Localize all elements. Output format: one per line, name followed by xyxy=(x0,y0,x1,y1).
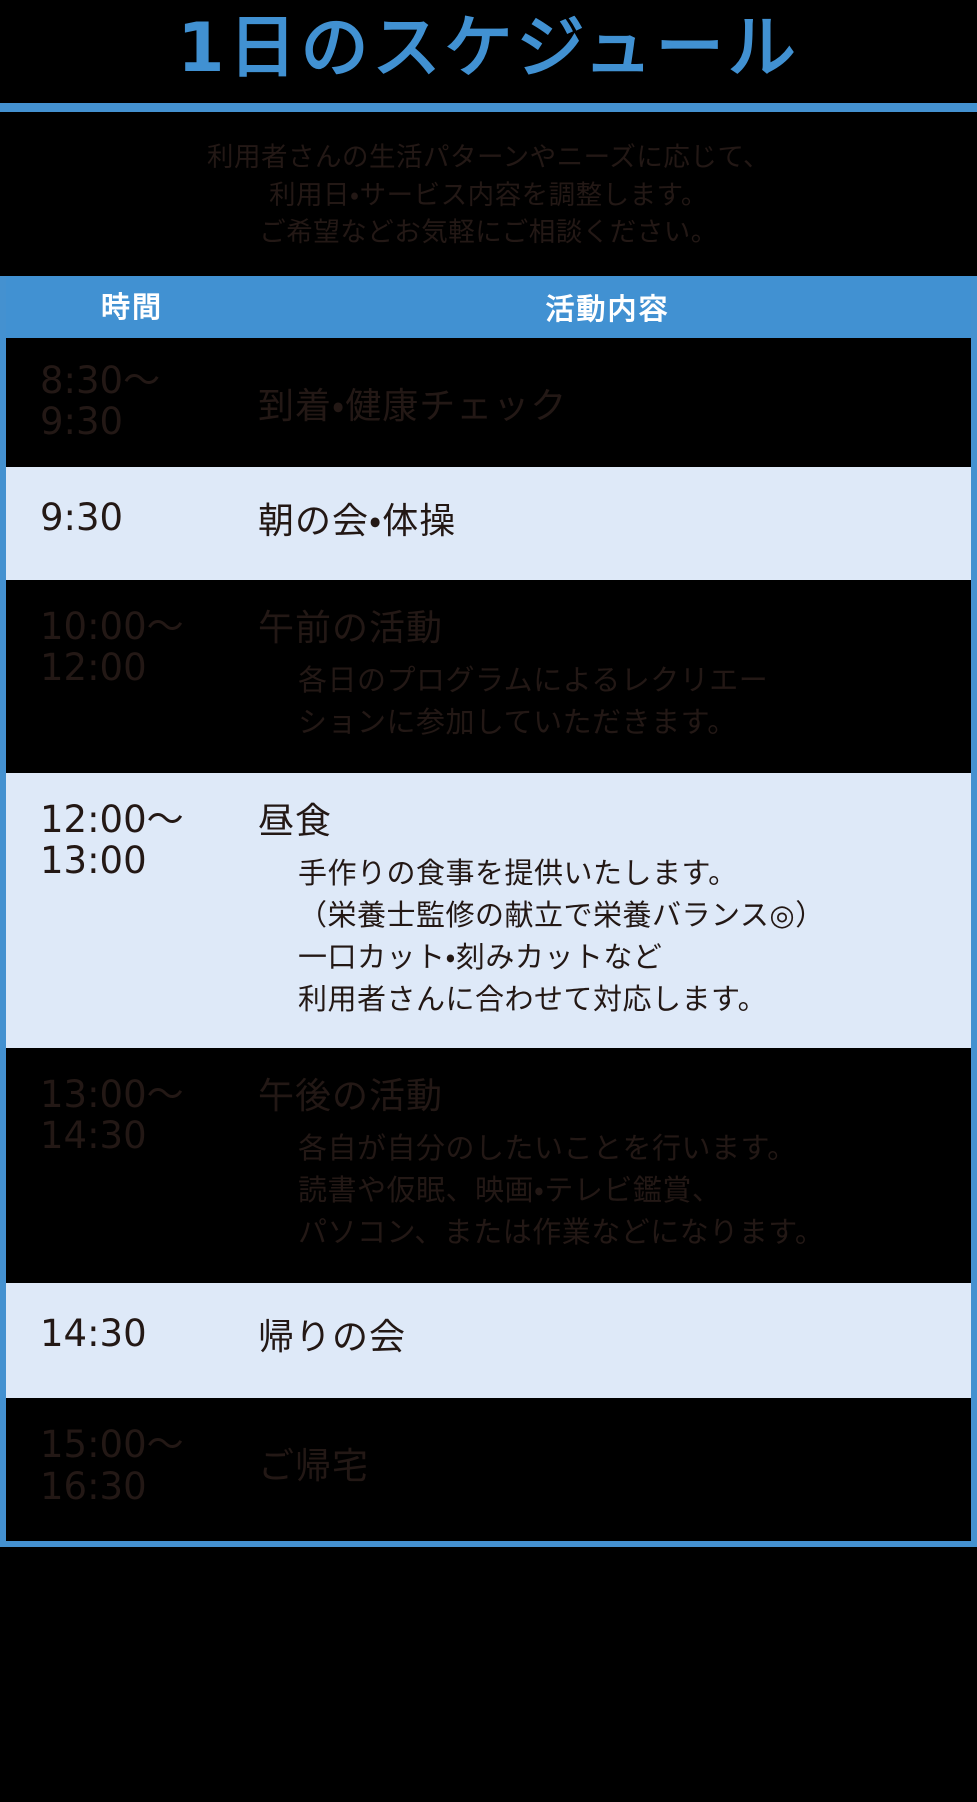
row-activity-title: 到着・健康チェック xyxy=(258,360,957,429)
row-activity-notes: 各自が自分のしたいことを行います。読書や仮眠、映画・テレビ鑑賞、パソコン、または… xyxy=(258,1127,957,1253)
table-row: 13:00〜 14:30午後の活動各自が自分のしたいことを行います。読書や仮眠、… xyxy=(6,1048,971,1283)
table-body: 8:30〜 9:30到着・健康チェック9:30朝の会・体操10:00〜 12:0… xyxy=(6,338,971,1541)
row-activity-title: 午前の活動 xyxy=(258,606,957,651)
row-activity-title: 帰りの会 xyxy=(258,1313,957,1360)
row-activity-note-line: 各日のプログラムによるレクリエー xyxy=(258,659,957,701)
row-activity-note-line: （栄養士監修の献立で栄養バランス◎） xyxy=(258,894,957,936)
row-activity-cell: ご帰宅 xyxy=(258,1424,971,1491)
row-activity-note-line: 利用者さんに合わせて対応します。 xyxy=(258,978,957,1020)
table-row: 14:30帰りの会 xyxy=(6,1283,971,1398)
column-header-activity: 活動内容 xyxy=(258,286,971,328)
row-activity-title: ご帰宅 xyxy=(258,1424,957,1489)
column-header-time: 時間 xyxy=(6,291,258,323)
row-activity-note-line: パソコン、または作業などになります。 xyxy=(258,1211,957,1253)
lead-line-2: 利用日・サービス内容を調整します。 xyxy=(0,177,977,215)
row-time-cell: 10:00〜 12:00 xyxy=(6,606,258,689)
row-time-cell: 13:00〜 14:30 xyxy=(6,1074,258,1157)
lead-line-1: 利用者さんの生活パターンやニーズに応じて、 xyxy=(0,139,977,177)
row-activity-cell: 昼食手作りの食事を提供いたします。（栄養士監修の献立で栄養バランス◎）一口カット… xyxy=(258,799,971,1020)
row-activity-note-line: ションに参加していただきます。 xyxy=(258,701,957,743)
row-activity-cell: 午前の活動各日のプログラムによるレクリエーションに参加していただきます。 xyxy=(258,606,971,743)
table-row: 9:30朝の会・体操 xyxy=(6,467,971,580)
row-activity-cell: 帰りの会 xyxy=(258,1313,971,1362)
row-activity-note-line: 各自が自分のしたいことを行います。 xyxy=(258,1127,957,1169)
row-activity-note-line: 手作りの食事を提供いたします。 xyxy=(258,852,957,894)
row-activity-title: 昼食 xyxy=(258,799,957,844)
row-activity-title: 朝の会・体操 xyxy=(258,497,957,544)
title-divider-rule xyxy=(0,103,977,112)
table-row: 10:00〜 12:00午前の活動各日のプログラムによるレクリエーションに参加し… xyxy=(6,580,971,773)
row-time-cell: 8:30〜 9:30 xyxy=(6,360,258,443)
schedule-page: 1日のスケジュール 利用者さんの生活パターンやニーズに応じて、 利用日・サービス… xyxy=(0,0,977,1802)
row-time-cell: 15:00〜 16:30 xyxy=(6,1424,258,1507)
page-title: 1日のスケジュール xyxy=(177,15,800,83)
row-activity-notes: 各日のプログラムによるレクリエーションに参加していただきます。 xyxy=(258,659,957,743)
table-header-row: 時間 活動内容 xyxy=(6,276,971,338)
lead-paragraph: 利用者さんの生活パターンやニーズに応じて、 利用日・サービス内容を調整します。 … xyxy=(0,112,977,276)
schedule-table: 時間 活動内容 8:30〜 9:30到着・健康チェック9:30朝の会・体操10:… xyxy=(0,276,977,1547)
row-activity-note-line: 一口カット・刻みカットなど xyxy=(258,936,957,978)
table-row: 12:00〜 13:00昼食手作りの食事を提供いたします。（栄養士監修の献立で栄… xyxy=(6,773,971,1048)
row-activity-note-line: 読書や仮眠、映画・テレビ鑑賞、 xyxy=(258,1169,957,1211)
row-activity-cell: 到着・健康チェック xyxy=(258,360,971,431)
row-activity-cell: 午後の活動各自が自分のしたいことを行います。読書や仮眠、映画・テレビ鑑賞、パソコ… xyxy=(258,1074,971,1253)
row-time-cell: 9:30 xyxy=(6,497,258,538)
row-time-cell: 12:00〜 13:00 xyxy=(6,799,258,882)
row-activity-notes: 手作りの食事を提供いたします。（栄養士監修の献立で栄養バランス◎）一口カット・刻… xyxy=(258,852,957,1020)
row-time-cell: 14:30 xyxy=(6,1313,258,1354)
table-row: 8:30〜 9:30到着・健康チェック xyxy=(6,338,971,467)
table-row: 15:00〜 16:30ご帰宅 xyxy=(6,1398,971,1541)
row-activity-title: 午後の活動 xyxy=(258,1074,957,1119)
title-band: 1日のスケジュール xyxy=(0,0,977,103)
lead-line-3: ご希望などお気軽にご相談ください。 xyxy=(0,214,977,252)
row-activity-cell: 朝の会・体操 xyxy=(258,497,971,546)
